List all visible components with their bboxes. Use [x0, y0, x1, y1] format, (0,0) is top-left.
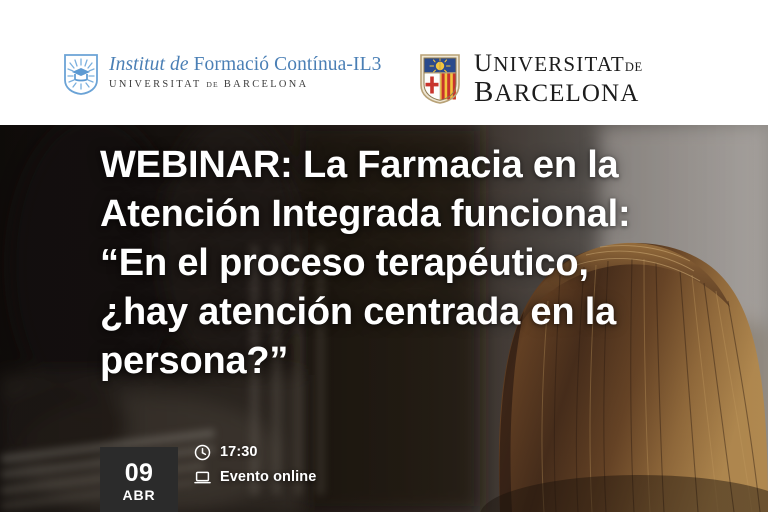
logo-il3-subtitle-universitat: UNIVERSITAT — [109, 79, 201, 90]
logo-ub-line-barcelona: BARCELONA — [474, 77, 643, 108]
logo-ub-text: UNIVERSITATDE BARCELONA — [474, 50, 643, 108]
event-meta-time: 17:30 — [194, 444, 316, 461]
event-meta-format: Evento online — [194, 469, 316, 486]
logo-ub-barcelona: ARCELONA — [494, 80, 639, 107]
page-title: WEBINAR: La Farmacia en la Atención Inte… — [100, 141, 640, 386]
logo-il3-title-regular: Formació Contínua-IL3 — [194, 54, 382, 75]
logo-il3-title: Institut de Formació Contínua-IL3 — [109, 55, 381, 75]
logo-universitat-de-barcelona: UNIVERSITATDE BARCELONA — [418, 50, 643, 108]
laptop-icon — [194, 469, 211, 486]
event-time-label: 17:30 — [220, 444, 258, 461]
event-meta-list: 17:30 Evento online — [194, 444, 316, 486]
clock-icon — [194, 444, 211, 461]
logo-il3-title-italic: Institut de — [109, 54, 194, 75]
logo-il3-subtitle-de: DE — [206, 80, 219, 89]
ub-crest-icon — [418, 53, 462, 105]
event-format-label: Evento online — [220, 469, 316, 486]
logo-ub-de: DE — [625, 60, 643, 74]
logo-ub-universitat: NIVERSITAT — [493, 52, 625, 76]
logo-ub-u-cap: U — [474, 50, 493, 77]
logo-il3: Institut de Formació Contínua-IL3 UNIVER… — [62, 50, 381, 96]
graduation-cap-shield-icon — [62, 50, 100, 96]
event-date-badge: 09 ABR — [100, 447, 178, 512]
event-date-month: ABR — [122, 486, 155, 504]
event-date-day: 09 — [125, 460, 154, 486]
logo-il3-subtitle-barcelona: BARCELONA — [224, 79, 309, 90]
logo-il3-subtitle: UNIVERSITAT DE BARCELONA — [109, 80, 381, 91]
webinar-promo-banner: Institut de Formació Contínua-IL3 UNIVER… — [0, 0, 768, 512]
logo-ub-b-cap: B — [474, 76, 494, 108]
logo-il3-text: Institut de Formació Contínua-IL3 UNIVER… — [109, 55, 381, 90]
logo-header-band: Institut de Formació Contínua-IL3 UNIVER… — [0, 0, 768, 125]
logo-ub-line-universitat: UNIVERSITATDE — [474, 50, 643, 77]
